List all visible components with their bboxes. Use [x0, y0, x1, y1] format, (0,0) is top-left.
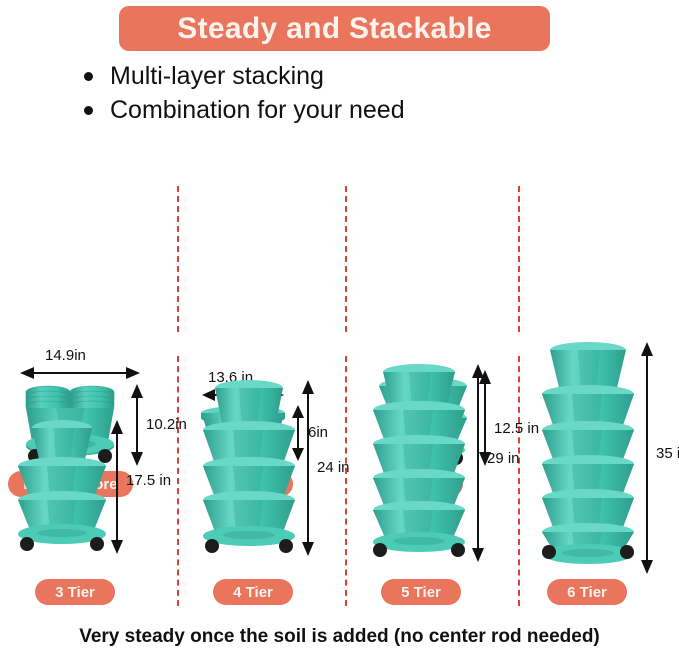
product-cell-5-tier: 29 in 5 Tier	[345, 356, 518, 606]
column-divider	[518, 186, 520, 332]
badge-label: 4 Tier	[233, 584, 273, 601]
bullet-label: Combination for your need	[110, 96, 405, 125]
planter-illustration	[367, 362, 471, 562]
height-dimension-arrow	[301, 380, 315, 556]
product-cell-1-tier: 13.6 in 6in 1 Tier	[177, 170, 345, 330]
badge-label: 5 Tier	[401, 584, 441, 601]
status-badge: 4 Tier	[213, 579, 293, 605]
height-dimension-label: 17.5 in	[126, 472, 171, 489]
height-dimension-arrow	[640, 342, 654, 574]
height-dimension-label: 35 in	[656, 445, 679, 462]
product-cell-6-tier: 35 in 6 Tier	[518, 320, 679, 606]
planter-illustration	[536, 340, 640, 574]
bullet-label: Multi-layer stacking	[110, 62, 324, 91]
status-badge: 3 Tier	[35, 579, 115, 605]
banner-title: Steady and Stackable	[177, 12, 491, 46]
product-cell-3-tier: 17.5 in 3 Tier	[0, 356, 177, 606]
product-cell-easy-to-store: 14.9in	[0, 170, 177, 330]
footer-caption: Very steady once the soil is added (no c…	[0, 626, 679, 648]
badge-label: 3 Tier	[55, 584, 95, 601]
feature-bullet-list: Multi-layer stacking Combination for you…	[84, 59, 554, 127]
list-item: Combination for your need	[84, 93, 554, 127]
status-badge: 5 Tier	[381, 579, 461, 605]
product-cell-2-tier: 12.5 in 2 Tier	[345, 170, 518, 330]
height-dimension-label: 29 in	[487, 450, 520, 467]
height-dimension-arrow	[471, 364, 485, 562]
badge-label: 6 Tier	[567, 584, 607, 601]
status-badge: 6 Tier	[547, 579, 627, 605]
planter-illustration	[197, 378, 301, 556]
planter-illustration	[12, 418, 112, 554]
product-cell-4-tier: 24 in 4 Tier	[177, 356, 345, 606]
height-dimension-arrow	[110, 420, 124, 554]
bullet-dot-icon	[84, 106, 93, 115]
header-banner: Steady and Stackable	[119, 6, 550, 51]
bullet-dot-icon	[84, 72, 93, 81]
list-item: Multi-layer stacking	[84, 59, 554, 93]
